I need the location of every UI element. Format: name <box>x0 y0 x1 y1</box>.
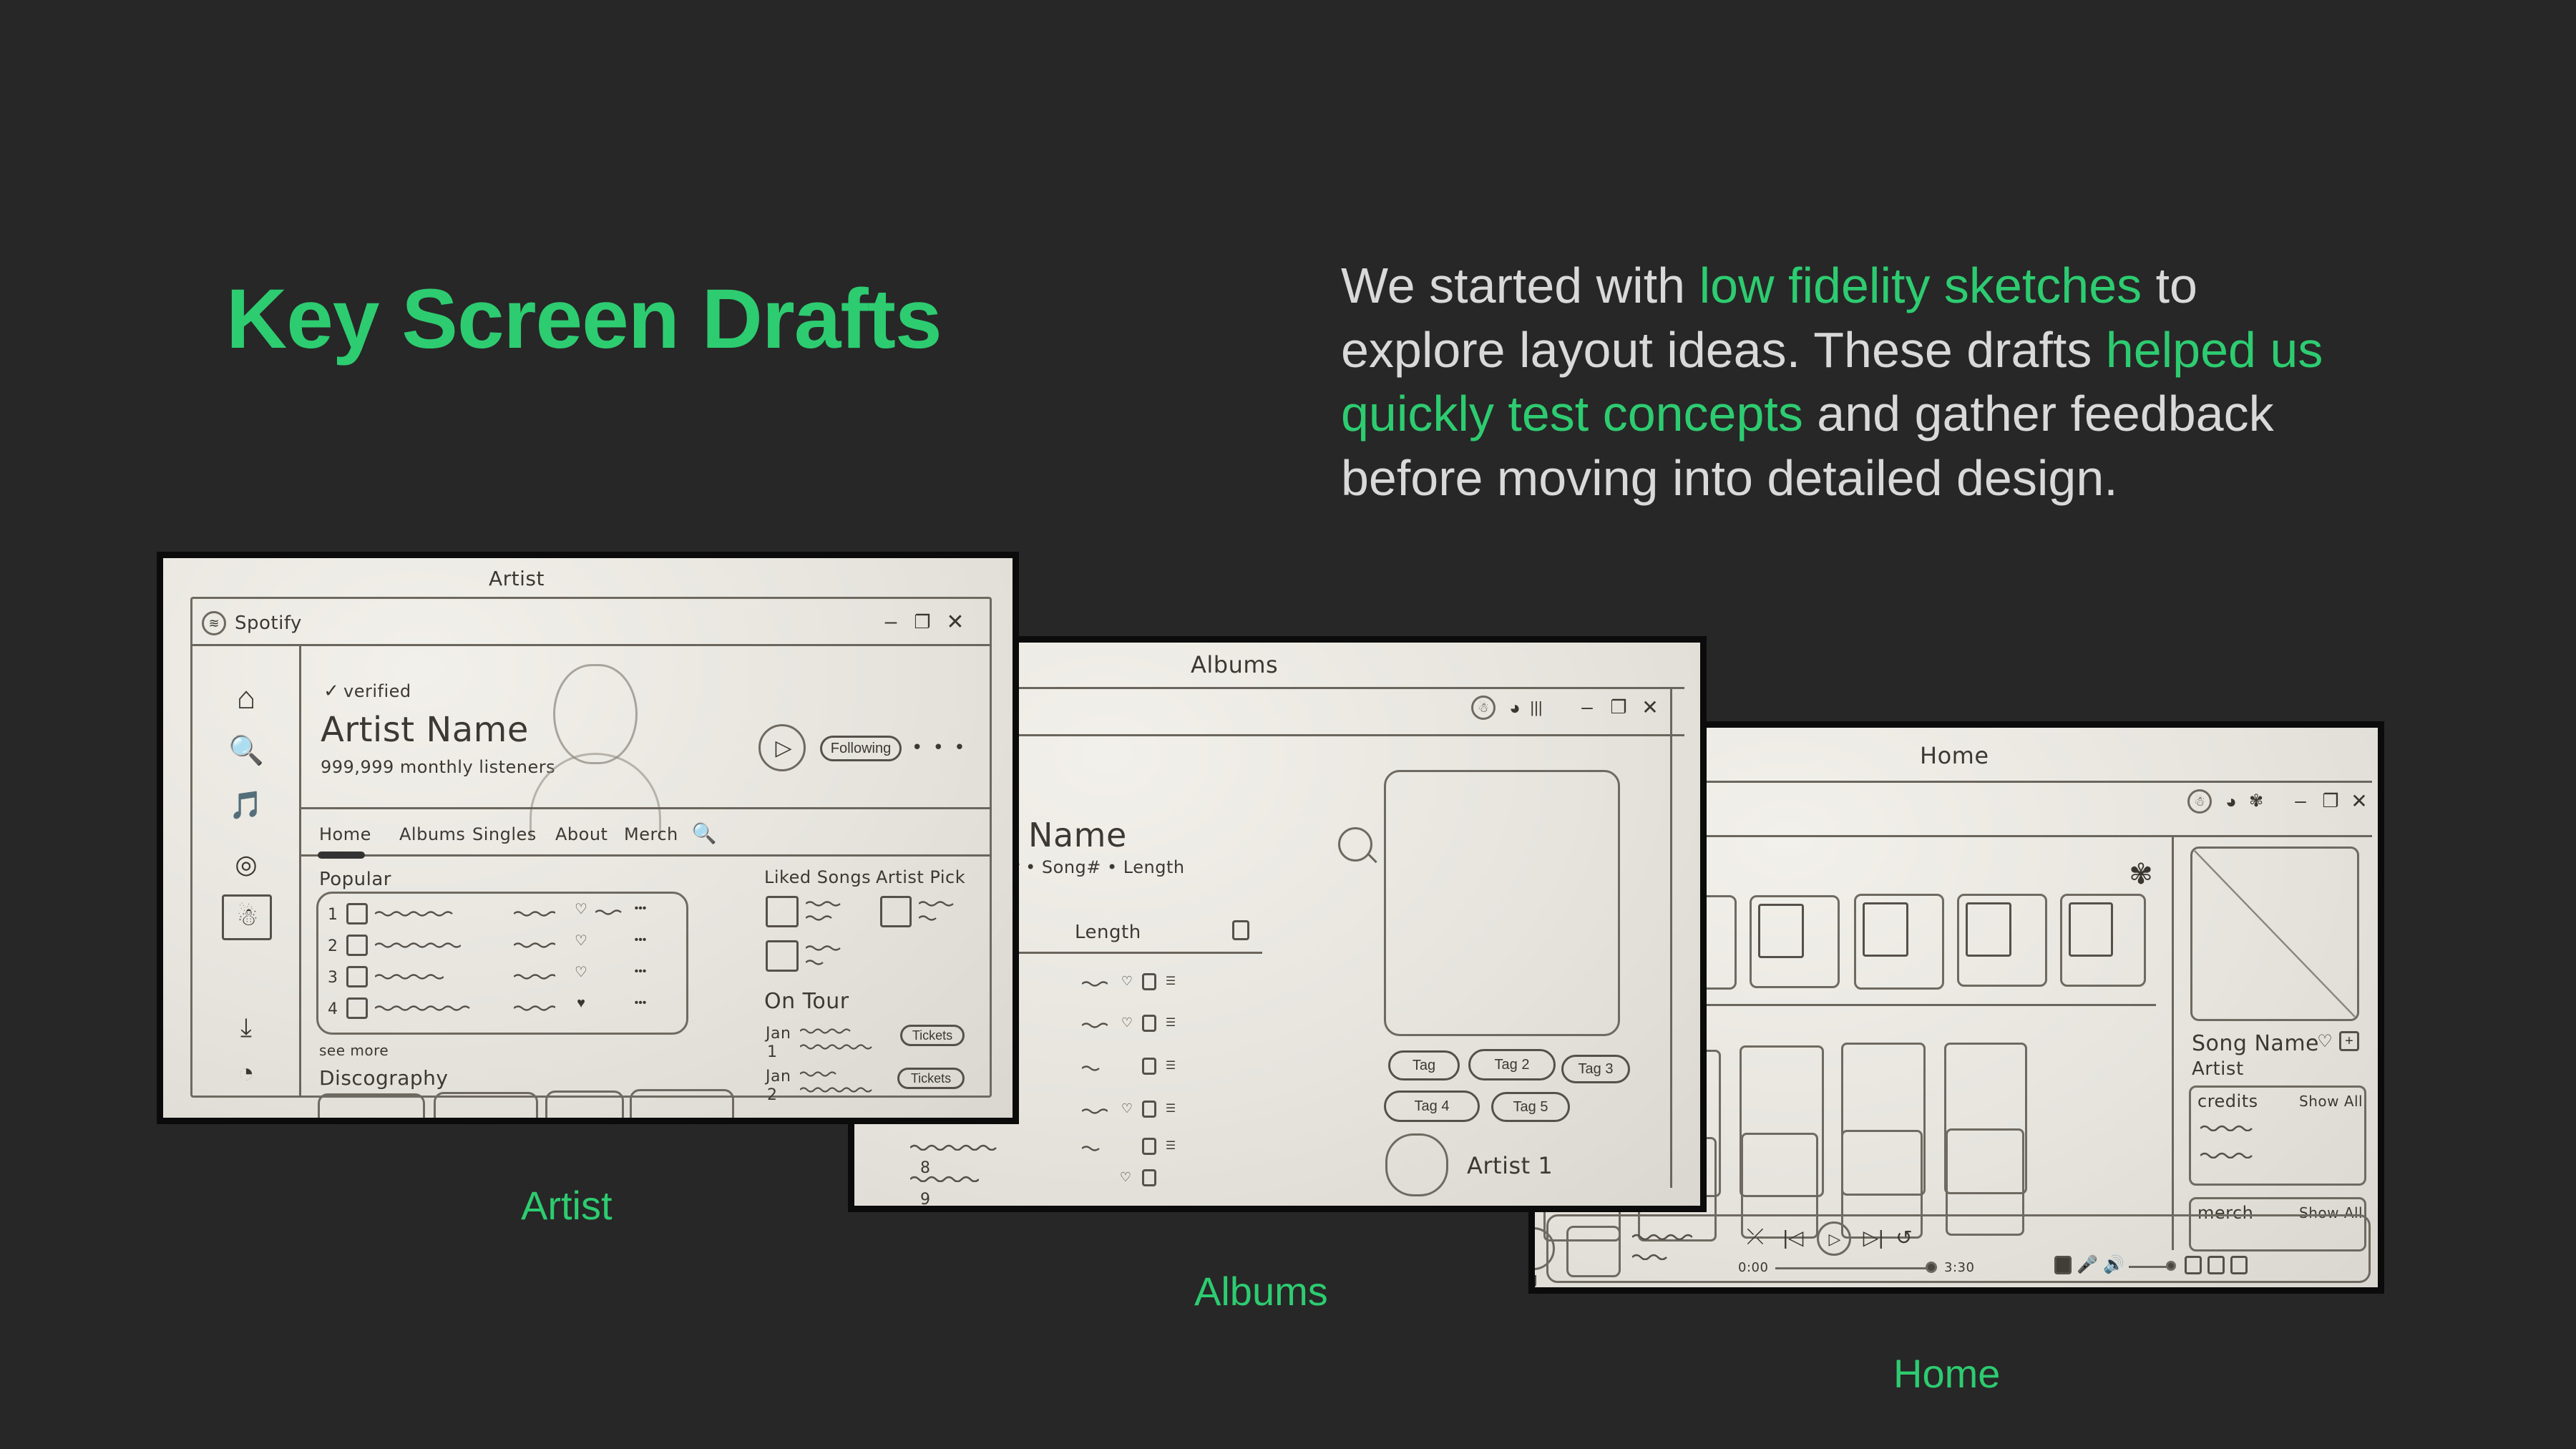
fullscreen-icon[interactable] <box>2230 1256 2248 1274</box>
track-length-squiggle <box>1082 1022 1108 1029</box>
popular-row-like-icon[interactable]: ♥ <box>572 995 590 1012</box>
credits-line <box>2200 1151 2258 1158</box>
artist-name: Artist Name <box>321 710 529 750</box>
monthly-listeners: 999,999 monthly listeners <box>321 757 555 777</box>
popular-row-plays-squiggle <box>514 910 555 917</box>
track-like-icon[interactable]: ♡ <box>1119 973 1135 989</box>
profile-icon: ☃ <box>232 902 263 933</box>
previous-icon[interactable]: |◁ <box>1781 1224 1805 1250</box>
popular-row-like-icon[interactable]: ♡ <box>572 900 590 917</box>
popular-row-like-icon[interactable]: ♡ <box>572 963 590 980</box>
track-more-icon[interactable]: ☰ <box>1163 1058 1178 1073</box>
player-time-total: 3:30 <box>1944 1260 1974 1275</box>
player-progress-track <box>1775 1267 1930 1269</box>
volume-slider-track[interactable] <box>2129 1266 2169 1268</box>
device-icon[interactable] <box>2207 1256 2225 1274</box>
now-playing-artist: Artist <box>2192 1058 2244 1080</box>
popular-row-title-squiggle <box>375 942 461 949</box>
album-tag[interactable]: Tag 3 <box>1561 1055 1630 1083</box>
col-length: Length <box>1075 922 1141 943</box>
popular-row-title-squiggle <box>375 973 444 980</box>
liked-songs-line <box>806 900 846 907</box>
popular-row-number: 3 <box>328 969 338 987</box>
maximize-icon[interactable]: ❐ <box>1607 696 1630 718</box>
track-add-icon[interactable] <box>1142 1169 1156 1186</box>
page-title: Key Screen Drafts <box>226 270 942 368</box>
album-tag[interactable]: Tag <box>1388 1050 1460 1080</box>
tickets-button[interactable]: Tickets <box>897 1068 965 1089</box>
now-playing-song: Song Name <box>2192 1031 2319 1056</box>
sidebar-item-library[interactable]: 🎵 <box>228 787 265 824</box>
liked-songs-line <box>806 945 846 952</box>
sketch-artist-page-label: Artist <box>489 567 545 590</box>
liked-songs-line <box>806 959 827 966</box>
player-time-elapsed: 0:00 <box>1738 1260 1768 1275</box>
popular-row-number: 2 <box>328 937 338 955</box>
artist-sidebar-divider <box>299 644 301 1098</box>
popular-row-more-icon[interactable]: ••• <box>630 902 651 916</box>
tour-venue-line <box>800 1043 879 1050</box>
sidebar-item-history[interactable]: ◔ <box>228 1055 265 1092</box>
sketch-albums-page-label: Albums <box>1191 651 1278 678</box>
intro-paragraph: We started with low fidelity sketches to… <box>1341 254 2343 510</box>
discography-card[interactable] <box>318 1093 425 1124</box>
account-glyph: ☃ <box>2192 794 2207 809</box>
popular-row-more-icon[interactable]: ••• <box>630 965 651 979</box>
track-row-number: 8 <box>920 1159 931 1177</box>
verified-label: verified <box>343 681 411 701</box>
popular-row-more-icon[interactable]: ••• <box>630 933 651 947</box>
tour-venue-line <box>800 1070 843 1078</box>
track-like-icon[interactable]: ♡ <box>1119 1015 1135 1030</box>
related-artist-avatar[interactable] <box>1385 1206 1448 1212</box>
liked-songs-title: Liked Songs <box>764 867 871 887</box>
track-add-icon[interactable] <box>1142 1101 1156 1118</box>
popular-row-plays-squiggle <box>514 1005 555 1012</box>
sketch-artist[interactable]: Artist ≋ Spotify – ❐ ✕ ⌂ 🔍 🎵 ◎ ☃ ⤓ ◔ ✓ v… <box>157 552 1019 1124</box>
popular-row-like-icon[interactable]: ♡ <box>572 932 590 949</box>
discography-card[interactable] <box>545 1091 624 1124</box>
album-tag[interactable]: Tag 2 <box>1468 1049 1556 1080</box>
liked-songs-line <box>806 914 833 922</box>
minimize-icon[interactable]: – <box>879 610 903 634</box>
artist-tab-active-indicator <box>318 852 365 859</box>
verified-check-icon: ✓ <box>322 681 341 700</box>
credits-label: credits <box>2197 1091 2258 1111</box>
tour-date-month: Jan <box>766 1025 791 1043</box>
tour-venue-line <box>800 1028 857 1035</box>
track-like-icon[interactable]: ♡ <box>1119 1101 1135 1116</box>
album-tag[interactable]: Tag 5 <box>1491 1092 1570 1122</box>
track-length-squiggle <box>1082 1145 1105 1152</box>
discography-card[interactable] <box>630 1089 734 1124</box>
popular-row-thumb <box>346 966 368 987</box>
close-icon[interactable]: ✕ <box>2348 789 2371 812</box>
now-playing-icon[interactable] <box>2054 1256 2072 1274</box>
sketch-home-page-label: Home <box>1920 742 1989 769</box>
tickets-button[interactable]: Tickets <box>900 1025 965 1046</box>
close-icon[interactable]: ✕ <box>1639 696 1662 718</box>
play-icon: ▷ <box>773 736 794 760</box>
artist-hero-divider <box>299 807 992 809</box>
volume-slider-thumb[interactable] <box>2166 1261 2176 1271</box>
tickets-button-label: Tickets <box>912 1028 952 1043</box>
track-row-number: 9 <box>920 1191 931 1209</box>
sidebar-item-home[interactable]: ⌂ <box>226 678 266 718</box>
settings-icon[interactable]: ✾ <box>2245 789 2268 812</box>
activity-icon[interactable]: ◕ <box>1503 696 1527 720</box>
credits-show-all-link[interactable]: Show All <box>2299 1093 2363 1110</box>
popular-row-thumb <box>346 903 368 924</box>
popular-row-plays-squiggle <box>514 942 555 949</box>
artist-nav-search-icon[interactable]: 🔍 <box>691 820 717 846</box>
player-track-artist <box>1632 1253 1669 1260</box>
popular-row-number: 1 <box>328 906 338 924</box>
album-tag-label: Tag 5 <box>1513 1099 1548 1116</box>
friends-icon[interactable]: ◕ <box>2219 789 2243 814</box>
discography-card[interactable] <box>434 1092 538 1124</box>
home-top-card-thumb <box>1758 904 1804 958</box>
track-more-icon[interactable]: ☰ <box>1163 973 1178 989</box>
section-popular-title: Popular <box>319 869 391 890</box>
play-icon: ▷ <box>1827 1230 1843 1249</box>
brand-label: Spotify <box>235 613 302 634</box>
shuffle-icon[interactable]: ⤫ <box>1742 1224 1768 1250</box>
tour-date-month: Jan <box>766 1068 791 1085</box>
tour-date-day: 2 <box>767 1086 778 1104</box>
intro-highlight-1: low fidelity sketches <box>1699 258 2142 313</box>
track-add-icon[interactable] <box>1142 1138 1156 1155</box>
track-more-icon[interactable]: ☰ <box>1163 1101 1178 1116</box>
follow-button[interactable]: Following <box>820 736 902 761</box>
minimize-icon[interactable]: – <box>2289 789 2312 812</box>
liked-songs-thumb[interactable] <box>766 896 799 927</box>
on-tour-title: On Tour <box>764 989 849 1014</box>
player-track-thumb <box>1566 1226 1621 1277</box>
maximize-icon[interactable]: ❐ <box>2319 789 2342 812</box>
artist-pick-line <box>919 900 955 907</box>
albums-view-toggle-icon[interactable] <box>1232 920 1249 940</box>
caption-albums: Albums <box>1194 1268 1328 1314</box>
album-tag-label: Tag 3 <box>1579 1061 1614 1078</box>
popular-row-number: 4 <box>328 1000 338 1018</box>
spotify-logo-glyph: ≋ <box>206 615 222 631</box>
caption-artist: Artist <box>521 1182 613 1229</box>
lyrics-icon[interactable]: 🎤 <box>2077 1253 2097 1276</box>
maximize-icon[interactable]: ❐ <box>910 610 935 634</box>
album-tag-label: Tag 4 <box>1415 1098 1450 1115</box>
queue-icon[interactable] <box>2185 1256 2202 1274</box>
album-tag[interactable]: Tag 4 <box>1384 1091 1480 1122</box>
section-discography-title: Discography <box>319 1066 449 1090</box>
home-top-card-thumb <box>1966 902 2011 957</box>
artist-tab-about[interactable]: About <box>555 824 608 844</box>
albums-search-icon[interactable] <box>1338 827 1372 862</box>
track-length-squiggle <box>1082 1065 1101 1072</box>
sidebar-item-download[interactable]: ⤓ <box>228 1009 265 1046</box>
album-tag-label: Tag 2 <box>1495 1057 1530 1073</box>
add-to-playlist-plus: + <box>2339 1031 2359 1051</box>
volume-icon[interactable]: 🔊 <box>2103 1253 2124 1276</box>
repeat-icon[interactable]: ↺ <box>1893 1224 1916 1250</box>
artist-avatar-head <box>553 664 638 764</box>
popular-row-more-icon[interactable]: ••• <box>630 996 651 1010</box>
heart-icon[interactable]: ♡ <box>2315 1031 2335 1051</box>
track-more-icon[interactable]: ☰ <box>1163 1015 1178 1030</box>
sidebar-item-search[interactable]: 🔍 <box>228 731 265 769</box>
close-icon[interactable]: ✕ <box>943 610 967 634</box>
artist-nav-divider <box>299 854 992 857</box>
liked-songs-thumb[interactable] <box>766 940 799 972</box>
artist-pick-title: Artist Pick <box>876 867 965 887</box>
dj-label: DJ <box>1528 1273 1538 1288</box>
track-length-squiggle <box>1082 980 1108 987</box>
track-add-icon[interactable] <box>1142 1015 1156 1032</box>
now-playing-artwork-cross <box>2190 847 2359 1021</box>
home-top-card-thumb <box>2069 902 2113 957</box>
track-like-icon[interactable]: ♡ <box>1118 1169 1133 1185</box>
follow-button-label: Following <box>831 741 891 757</box>
player-track-title <box>1632 1233 1692 1240</box>
artist-tab-albums[interactable]: Albums <box>399 824 465 844</box>
activity-bars-icon: ||| <box>1526 697 1547 718</box>
popular-row-duration-squiggle <box>595 909 624 916</box>
account-glyph: ☃ <box>1475 700 1491 716</box>
album-art-panel <box>1384 770 1620 1036</box>
more-options-button[interactable]: • • • <box>912 737 967 758</box>
artist-titlebar-divider <box>190 644 992 646</box>
popular-row-plays-squiggle <box>514 973 555 980</box>
artist-tab-home[interactable]: Home <box>319 824 371 844</box>
albums-right-frame <box>1670 687 1672 1188</box>
track-title-squiggle <box>910 1143 997 1151</box>
related-artist-name[interactable]: Artist 1 <box>1467 1152 1553 1179</box>
tickets-button-label: Tickets <box>911 1071 951 1086</box>
player-progress-thumb[interactable] <box>1926 1262 1937 1273</box>
popular-row-title-squiggle <box>375 910 454 917</box>
artist-tab-merch[interactable]: Merch <box>624 824 678 844</box>
track-add-icon[interactable] <box>1142 1058 1156 1075</box>
sidebar-item-record[interactable]: ◎ <box>229 847 263 882</box>
intro-part-1: We started with <box>1341 258 1699 313</box>
credits-line <box>2200 1124 2258 1131</box>
tour-venue-line <box>800 1086 879 1093</box>
home-top-card-thumb <box>1863 902 1908 957</box>
caption-home: Home <box>1893 1350 2000 1397</box>
track-length-squiggle <box>1082 1108 1108 1115</box>
related-artist-avatar[interactable] <box>1385 1133 1448 1196</box>
artist-pick-thumb[interactable] <box>880 896 912 927</box>
next-icon[interactable]: ▷| <box>1861 1224 1885 1250</box>
popular-row-thumb <box>346 935 368 956</box>
home-right-panel-divider <box>2172 835 2174 1250</box>
album-tag-label: Tag <box>1413 1058 1435 1074</box>
popular-row-thumb <box>346 997 368 1019</box>
track-more-icon[interactable]: ☰ <box>1163 1138 1178 1153</box>
artist-tab-singles[interactable]: Singles <box>472 824 537 844</box>
track-add-icon[interactable] <box>1142 973 1156 990</box>
artist-pick-line <box>919 914 939 922</box>
minimize-icon[interactable]: – <box>1576 696 1599 718</box>
gear-icon[interactable]: ✾ <box>2124 858 2157 891</box>
popular-row-title-squiggle <box>375 1005 475 1012</box>
see-more-link[interactable]: see more <box>319 1042 389 1059</box>
tour-date-day: 1 <box>767 1043 778 1061</box>
